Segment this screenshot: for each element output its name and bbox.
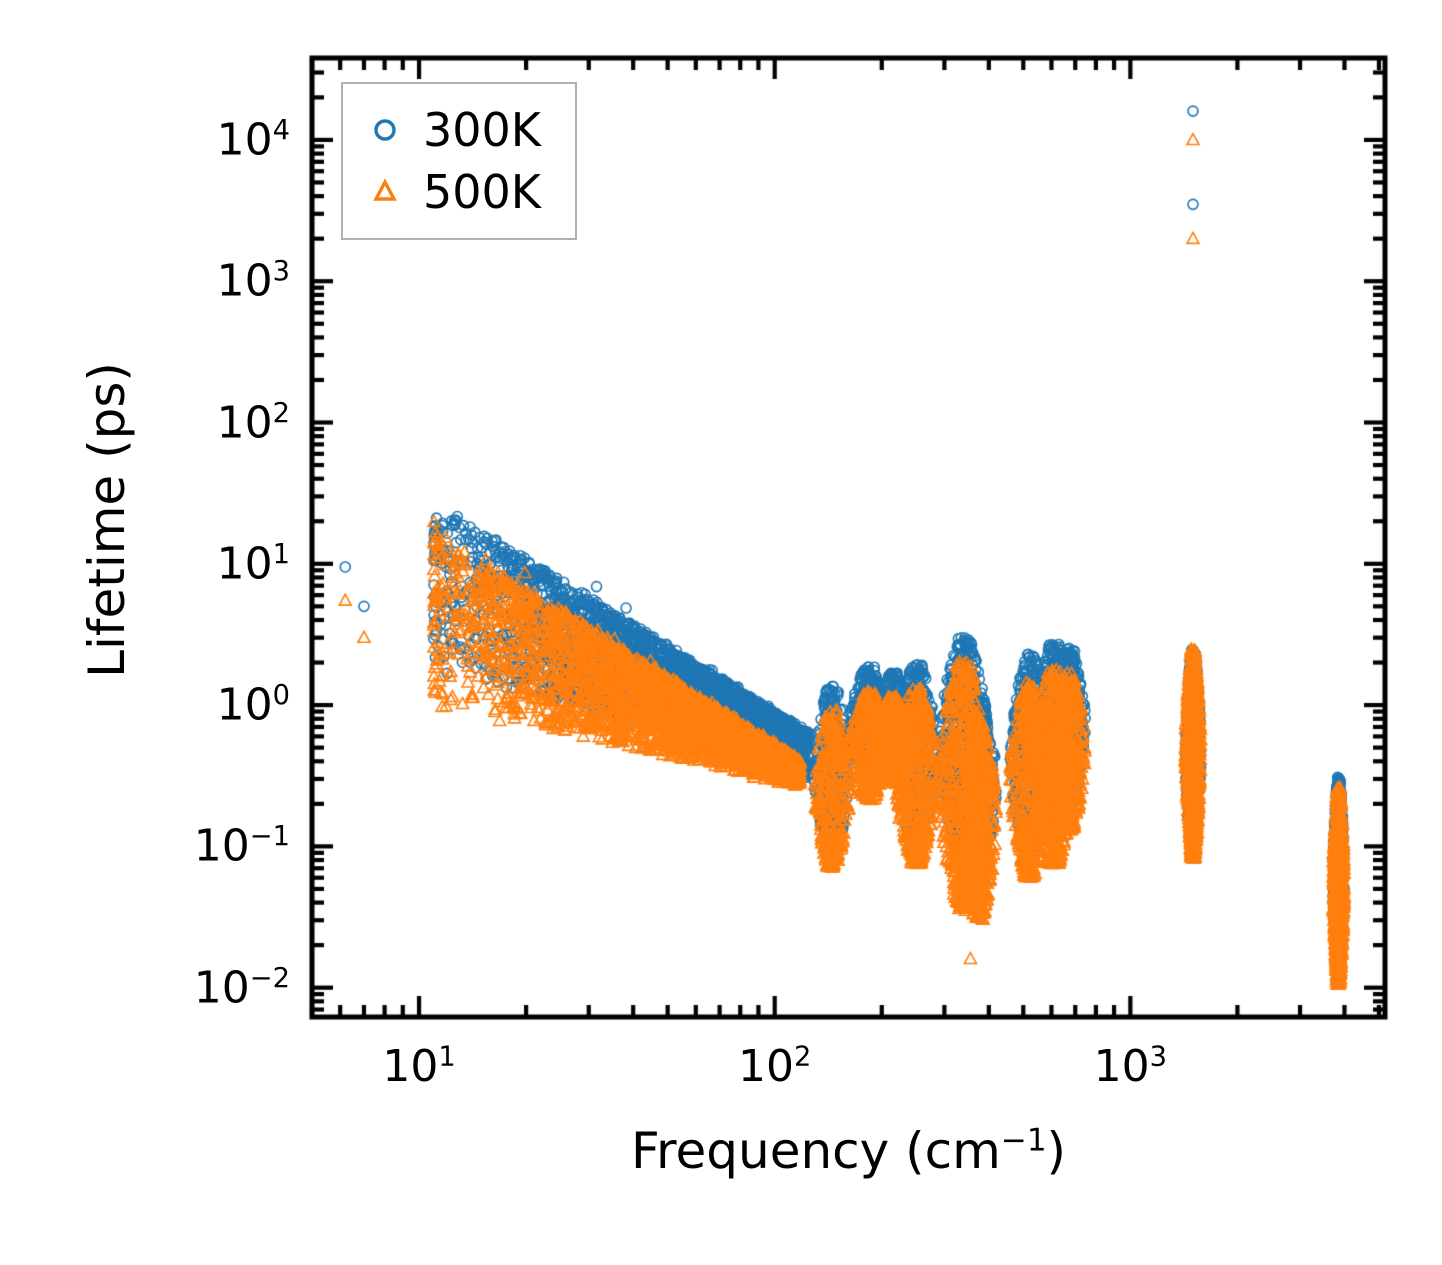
scatter-plot-canvas	[0, 0, 1442, 1265]
x-axis-title: Frequency (cm−1)	[312, 1122, 1385, 1180]
y-tick-label: 102	[0, 397, 290, 448]
y-axis-title: Lifetime (ps)	[78, 40, 136, 1000]
circle-marker-icon	[357, 113, 413, 147]
x-tick-label: 101	[382, 1041, 455, 1092]
y-tick-label: 101	[0, 538, 290, 589]
x-axis-title-tail: )	[1047, 1122, 1067, 1180]
x-tick-label: 102	[738, 1041, 811, 1092]
y-tick-label: 104	[0, 114, 290, 165]
legend: 300K 500K	[341, 82, 577, 240]
triangle-marker-icon	[357, 175, 413, 209]
x-axis-title-exponent: −1	[1001, 1122, 1047, 1158]
legend-entry-500k: 500K	[357, 161, 575, 223]
legend-label-500k: 500K	[413, 169, 541, 215]
y-tick-label: 103	[0, 256, 290, 307]
x-tick-label: 103	[1094, 1041, 1167, 1092]
x-axis-title-base: Frequency (cm	[631, 1122, 1001, 1180]
y-tick-label: 10−1	[0, 821, 290, 872]
legend-entry-300k: 300K	[357, 99, 575, 161]
y-tick-label: 100	[0, 680, 290, 731]
y-tick-label: 10−2	[0, 962, 290, 1013]
figure-container: 10−210−1100101102103104 101102103 Freque…	[0, 0, 1442, 1265]
legend-label-300k: 300K	[413, 107, 541, 153]
